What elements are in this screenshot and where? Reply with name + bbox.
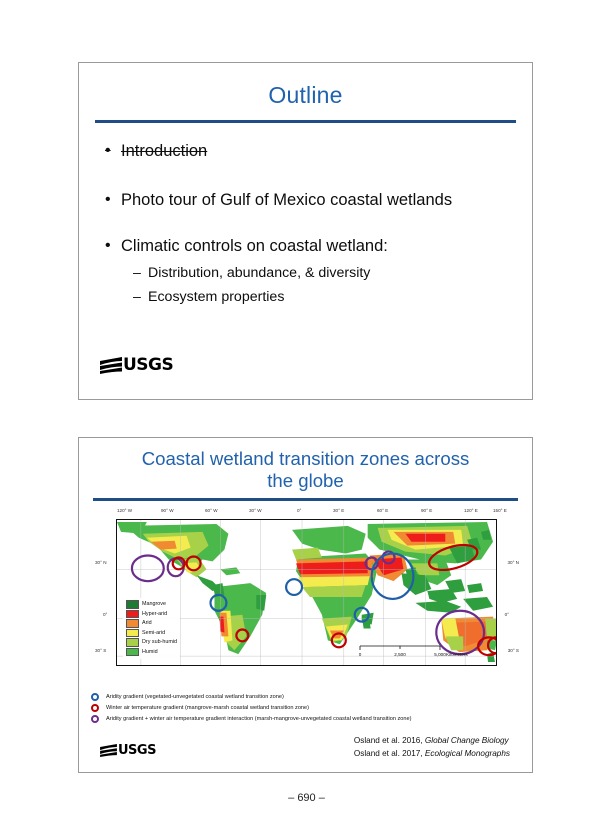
annotation-legend: Aridity gradient (vegetated-unvegetated …: [91, 693, 511, 726]
annotation-legend-row-interaction: Aridity gradient + winter air temperatur…: [91, 715, 511, 723]
sub-bullet-marker: –: [133, 264, 148, 282]
legend-row-mangrove: Mangrove: [126, 600, 177, 609]
sub-bullet-distribution: – Distribution, abundance, & diversity: [133, 264, 518, 282]
lon-label: 60° W: [205, 508, 218, 513]
legend-swatch: [126, 610, 139, 619]
red-ring-icon: [91, 704, 99, 712]
lat-label-right: 30° S: [508, 648, 519, 653]
lon-label: 90° E: [421, 508, 432, 513]
bullet-photo-tour: • Photo tour of Gulf of Mexico coastal w…: [105, 190, 518, 211]
slide1-sub-bullet-list: – Distribution, abundance, & diversity –…: [105, 264, 518, 307]
legend-row-dry-sub-humid: Dry sub-humid: [126, 638, 177, 647]
legend-label: Dry sub-humid: [142, 639, 177, 645]
slide2-title-line1: Coastal wetland transition zones across: [105, 448, 506, 470]
lon-label: 30° E: [333, 508, 344, 513]
slide2-title-rule: [93, 498, 518, 501]
bullet-text: Introduction: [121, 141, 207, 162]
page-number: – 690 –: [0, 792, 613, 804]
bullet-text: Climatic controls on coastal wetland:: [121, 236, 388, 257]
purple-ring-icon: [91, 715, 99, 723]
blue-ring-icon: [91, 693, 99, 701]
lon-label: 120° W: [117, 508, 132, 513]
lat-label-left: 30° S: [95, 648, 106, 653]
lon-label: 150° E: [493, 508, 507, 513]
annotation-legend-label: Aridity gradient + winter air temperatur…: [106, 716, 411, 722]
sub-bullet-text: Distribution, abundance, & diversity: [148, 264, 370, 282]
annotation-legend-label: Aridity gradient (vegetated-unvegetated …: [106, 694, 284, 700]
lon-label: 120° E: [464, 508, 478, 513]
legend-swatch: [126, 638, 139, 647]
scale-tick-2500: 2,500: [394, 652, 406, 657]
sub-bullet-ecosystem: – Ecosystem properties: [133, 288, 518, 306]
usgs-wordmark: USGS: [118, 743, 156, 758]
legend-label: Hyper-arid: [142, 611, 167, 617]
lon-label: 30° W: [249, 508, 262, 513]
citation-authors: Osland et al. 2017,: [354, 749, 425, 758]
legend-row-semi-arid: Semi-arid: [126, 629, 177, 638]
citations: Osland et al. 2016, Global Change Biolog…: [354, 735, 510, 760]
sub-bullet-text: Ecosystem properties: [148, 288, 284, 306]
annotation-legend-row-winter-temp: Winter air temperature gradient (mangrov…: [91, 704, 511, 712]
slide1-title: Outline: [79, 82, 532, 109]
legend-row-hyper-arid: Hyper-arid: [126, 610, 177, 619]
usgs-wave-icon: [100, 357, 122, 374]
legend-label: Mangrove: [142, 601, 166, 607]
usgs-logo: USGS: [100, 743, 156, 758]
legend-swatch: [126, 600, 139, 609]
legend-label: Semi-arid: [142, 630, 165, 636]
map-scale-bar: 0 2,500 5,000 Kilometers: [354, 643, 474, 658]
usgs-logo: USGS: [100, 355, 173, 375]
bullet-text: Photo tour of Gulf of Mexico coastal wet…: [121, 190, 452, 211]
lon-label: 60° E: [377, 508, 388, 513]
slide-outline: Outline • Introduction • Photo tour of G…: [78, 62, 533, 400]
legend-row-humid: Humid: [126, 648, 177, 657]
usgs-wordmark: USGS: [123, 355, 173, 375]
map-canvas: Mangrove Hyper-arid Arid Semi-arid Dry s…: [116, 519, 497, 666]
lat-label-right: 0°: [505, 612, 509, 617]
legend-swatch: [126, 629, 139, 638]
scale-tick-0: 0: [359, 652, 362, 657]
lat-label-left: 30° N: [95, 560, 107, 565]
spacer: [105, 162, 518, 190]
slide-coastal-wetland-map: Coastal wetland transition zones across …: [78, 437, 533, 773]
legend-row-arid: Arid: [126, 619, 177, 628]
world-map-figure: 120° W 90° W 60° W 30° W 0° 30° E 60° E …: [93, 508, 520, 688]
bullet-introduction: • Introduction: [105, 141, 518, 162]
citation-2016: Osland et al. 2016, Global Change Biolog…: [354, 735, 510, 747]
bullet-climatic-controls: • Climatic controls on coastal wetland:: [105, 236, 518, 257]
lat-label-left: 0°: [103, 612, 107, 617]
lon-label: 0°: [297, 508, 301, 513]
longitude-axis: 120° W 90° W 60° W 30° W 0° 30° E 60° E …: [93, 508, 520, 519]
citation-authors: Osland et al. 2016,: [354, 736, 425, 745]
slide2-title: Coastal wetland transition zones across …: [105, 448, 506, 492]
bullet-marker: •: [105, 190, 121, 210]
legend-label: Humid: [142, 649, 158, 655]
citation-journal: Global Change Biology: [425, 736, 509, 745]
annotation-legend-label: Winter air temperature gradient (mangrov…: [106, 705, 309, 711]
sub-bullet-marker: –: [133, 288, 148, 306]
slide2-title-line2: the globe: [105, 470, 506, 492]
bullet-marker: •: [105, 236, 121, 256]
citation-2017: Osland et al. 2017, Ecological Monograph…: [354, 748, 510, 760]
map-legend: Mangrove Hyper-arid Arid Semi-arid Dry s…: [123, 598, 180, 659]
legend-swatch: [126, 619, 139, 628]
lat-label-right: 30° N: [507, 560, 519, 565]
scale-units: Kilometers: [446, 652, 468, 657]
lon-label: 90° W: [161, 508, 174, 513]
scale-tick-5000: 5,000: [434, 652, 446, 657]
bullet-marker: •: [105, 141, 121, 161]
slide1-title-rule: [95, 120, 516, 123]
spacer: [105, 210, 518, 236]
legend-swatch: [126, 648, 139, 657]
citation-journal: Ecological Monographs: [425, 749, 510, 758]
annotation-legend-row-aridity: Aridity gradient (vegetated-unvegetated …: [91, 693, 511, 701]
usgs-wave-icon: [100, 744, 117, 757]
legend-label: Arid: [142, 620, 152, 626]
slide1-bullet-list: • Introduction • Photo tour of Gulf of M…: [79, 141, 532, 307]
